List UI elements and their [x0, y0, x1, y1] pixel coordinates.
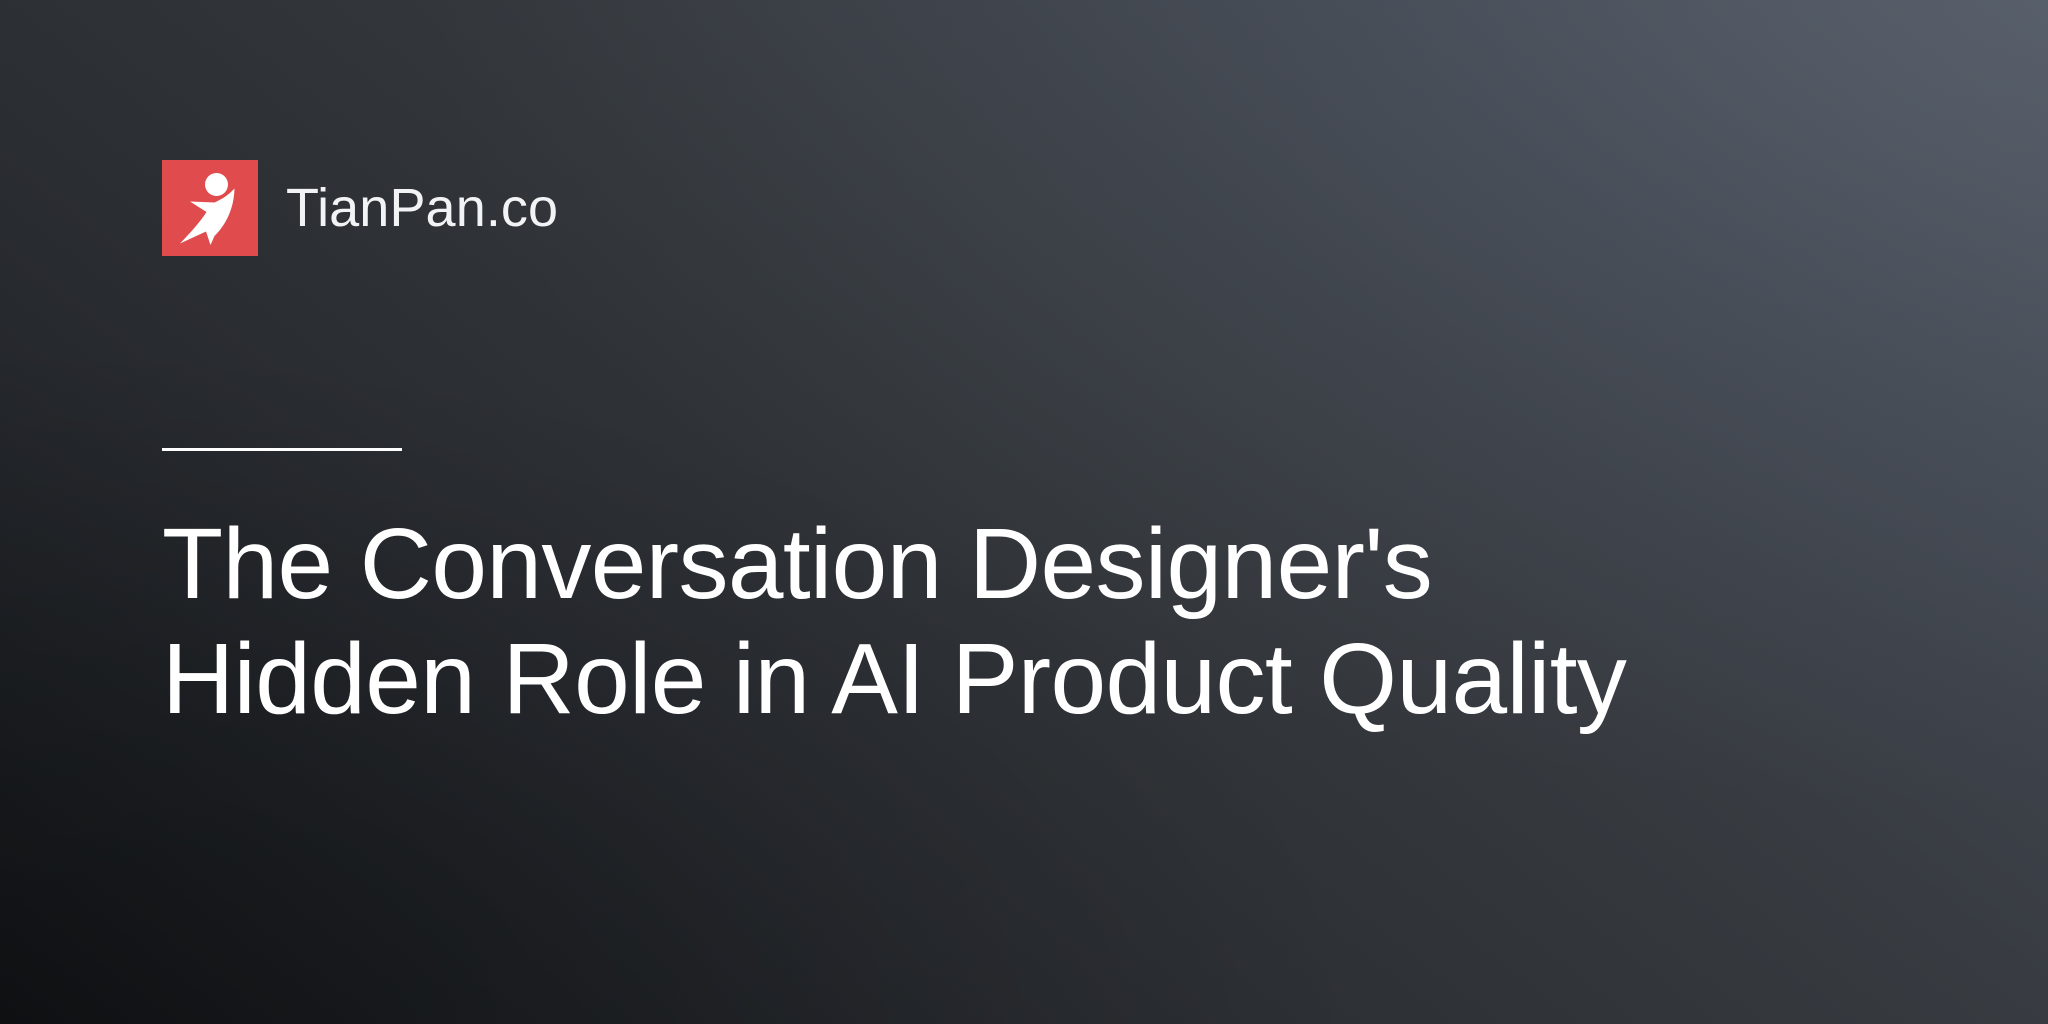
cover-content: TianPan.co The Conversation Designer's H…	[0, 0, 2048, 737]
brand-name: TianPan.co	[286, 181, 558, 235]
article-title: The Conversation Designer's Hidden Role …	[162, 507, 1662, 737]
tianpan-running-figure-icon	[162, 160, 258, 256]
brand-lockup[interactable]: TianPan.co	[162, 160, 2048, 256]
title-divider	[162, 448, 402, 451]
article-cover-card: TianPan.co The Conversation Designer's H…	[0, 0, 2048, 1024]
